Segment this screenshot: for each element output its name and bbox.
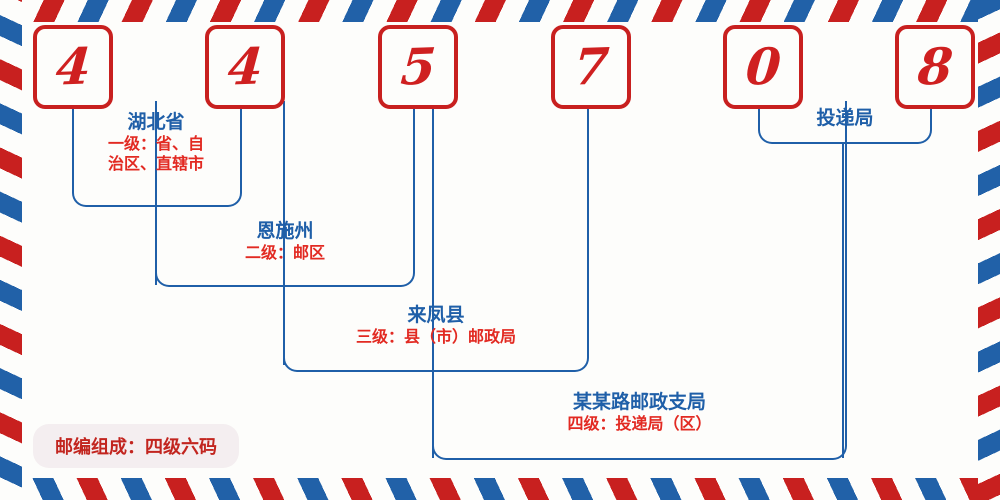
postcode-digit-box-1[interactable]: 4 [33, 25, 113, 109]
footer-note-text: 邮编组成：四级六码 [55, 437, 217, 458]
label-level-4: 某某路邮政支局 四级：投递局（区） [434, 392, 845, 434]
label-level-1-subtitle-line-2: 治区、直辖市 [72, 154, 240, 174]
airmail-stripes-right [978, 0, 1000, 500]
label-level-4-subtitle: 四级：投递局（区） [434, 414, 845, 434]
label-level-3-title: 来凤县 [285, 305, 587, 327]
postcode-digit-6: 8 [916, 41, 954, 92]
airmail-border-left [0, 0, 22, 500]
label-level-1-title: 湖北省 [72, 112, 240, 134]
postcode-digit-4: 7 [572, 41, 610, 92]
label-level-2-subtitle: 二级：邮区 [157, 243, 413, 263]
label-level-2: 恩施州 二级：邮区 [157, 221, 413, 263]
airmail-stripes-left [0, 0, 22, 500]
label-level-1: 湖北省 一级：省、自 治区、直辖市 [72, 112, 240, 174]
label-level-1-subtitle-line-1: 一级：省、自 [72, 134, 240, 154]
airmail-border-top [0, 0, 1000, 22]
label-level-3-subtitle: 三级：县（市）邮政局 [285, 327, 587, 347]
postcode-digit-box-3[interactable]: 5 [378, 25, 458, 109]
postcode-digit-5: 0 [744, 41, 782, 92]
label-delivery-office-title: 投递局 [760, 108, 930, 130]
postcode-digit-1: 4 [54, 41, 92, 92]
airmail-stripes-bottom [0, 478, 1000, 500]
label-level-4-title: 某某路邮政支局 [434, 392, 845, 414]
postcode-digit-box-5[interactable]: 0 [723, 25, 803, 109]
label-delivery-office: 投递局 [760, 108, 930, 130]
footer-note-chip: 邮编组成：四级六码 [33, 424, 239, 468]
postcode-digit-box-6[interactable]: 8 [895, 25, 975, 109]
airmail-border-bottom [0, 478, 1000, 500]
airmail-stripes-top [0, 0, 1000, 22]
label-level-3: 来凤县 三级：县（市）邮政局 [285, 305, 587, 347]
label-level-2-title: 恩施州 [157, 221, 413, 243]
postcode-digit-box-2[interactable]: 4 [205, 25, 285, 109]
postcode-digit-2: 4 [226, 41, 264, 92]
postcode-digit-box-4[interactable]: 7 [551, 25, 631, 109]
postcode-digit-3: 5 [399, 41, 437, 92]
postcode-diagram-envelope: 4 4 5 7 0 8 湖北省 一级：省、自 治区、直辖市 恩施州 二级：邮区 … [0, 0, 1000, 500]
airmail-border-right [978, 0, 1000, 500]
